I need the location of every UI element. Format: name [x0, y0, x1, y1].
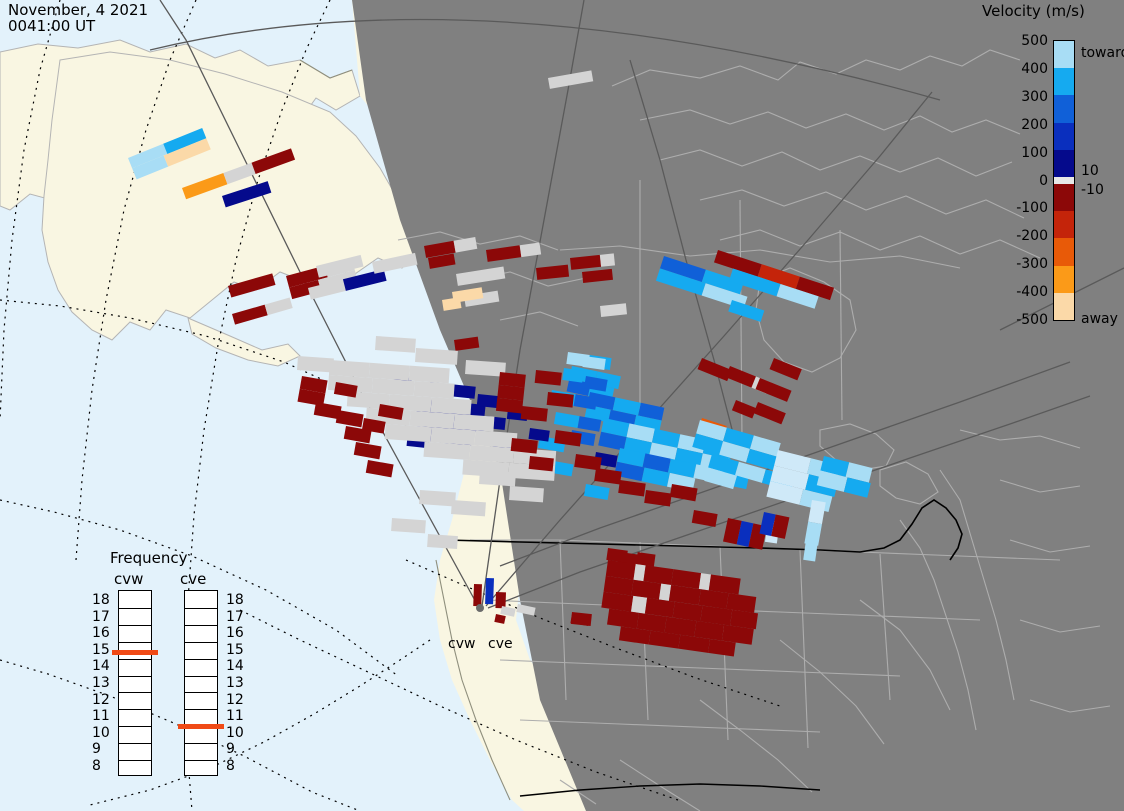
colorbar-segment — [1054, 95, 1074, 123]
frequency-scale-cvw — [118, 590, 152, 776]
colorbar-segment — [1054, 211, 1074, 239]
frequency-column-label-cvw: cvw — [114, 570, 143, 588]
frequency-scale-label: 10 — [226, 725, 244, 741]
frequency-scale-label: 16 — [92, 625, 110, 641]
frequency-gridline — [185, 709, 217, 710]
frequency-scale-label: 8 — [92, 758, 101, 774]
frequency-marker-cve — [178, 724, 224, 729]
frequency-scale-label: 13 — [92, 675, 110, 691]
colorbar-segment — [1054, 266, 1074, 294]
colorbar-segment — [1054, 123, 1074, 151]
radar-label-cvw: cvw — [448, 636, 475, 652]
frequency-gridline — [119, 676, 151, 677]
frequency-scale-label: 9 — [92, 741, 101, 757]
colorbar-segment — [1054, 68, 1074, 96]
frequency-gridline — [119, 642, 151, 643]
frequency-gridline — [119, 625, 151, 626]
frequency-scale-label: 16 — [226, 625, 244, 641]
colorbar-tick-label: 300 — [1021, 89, 1048, 105]
frequency-gridline — [185, 676, 217, 677]
colorbar-tick-label: 200 — [1021, 117, 1048, 133]
frequency-marker-cvw — [112, 650, 158, 655]
frequency-scale-label: 10 — [92, 725, 110, 741]
colorbar-tick-label: -100 — [1016, 200, 1048, 216]
frequency-gridline — [119, 692, 151, 693]
colorbar-tick-label: 500 — [1021, 33, 1048, 49]
frequency-gridline — [185, 608, 217, 609]
colorbar-tick-label: 100 — [1021, 145, 1048, 161]
colorbar-tick-label: 0 — [1039, 173, 1048, 189]
frequency-column-label-cve: cve — [180, 570, 206, 588]
frequency-gridline — [119, 743, 151, 744]
frequency-gridline — [119, 709, 151, 710]
radar-label-cve: cve — [488, 636, 513, 652]
colorbar-segment — [1054, 177, 1074, 184]
radar-site-dot — [476, 604, 484, 612]
frequency-scale-label: 9 — [226, 741, 235, 757]
frequency-gridline — [185, 642, 217, 643]
colorbar-tick-label: -300 — [1016, 256, 1048, 272]
frequency-scale-label: 11 — [226, 708, 244, 724]
frequency-scale-label: 13 — [226, 675, 244, 691]
colorbar-away-label: away — [1081, 311, 1118, 327]
frequency-scale-label: 18 — [92, 592, 110, 608]
frequency-gridline — [119, 608, 151, 609]
colorbar-title: Velocity (m/s) — [982, 2, 1085, 20]
map-time: 0041:00 UT — [8, 18, 95, 34]
colorbar-tick-label: -400 — [1016, 284, 1048, 300]
frequency-gridline — [185, 760, 217, 761]
colorbar-tick-label: -200 — [1016, 228, 1048, 244]
colorbar-zero-pos-label: 10 — [1081, 163, 1099, 179]
frequency-scale-label: 17 — [92, 609, 110, 625]
frequency-gridline — [185, 743, 217, 744]
colorbar-toward-label: toward — [1081, 45, 1124, 61]
colorbar-segment — [1054, 41, 1074, 69]
frequency-title: Frequency — [110, 549, 188, 567]
frequency-scale-label: 15 — [92, 642, 110, 658]
colorbar-segment — [1054, 184, 1074, 212]
velocity-colorbar — [1053, 40, 1075, 321]
frequency-scale-label: 17 — [226, 609, 244, 625]
frequency-scale-label: 14 — [92, 658, 110, 674]
colorbar-segment — [1054, 293, 1074, 321]
colorbar-segment — [1054, 238, 1074, 266]
frequency-scale-label: 18 — [226, 592, 244, 608]
colorbar-segment — [1054, 150, 1074, 178]
frequency-scale-cve — [184, 590, 218, 776]
frequency-scale-label: 14 — [226, 658, 244, 674]
frequency-gridline — [185, 692, 217, 693]
frequency-scale-label: 8 — [226, 758, 235, 774]
frequency-gridline — [185, 659, 217, 660]
frequency-gridline — [185, 625, 217, 626]
map-date: November, 4 2021 — [8, 2, 148, 18]
frequency-scale-label: 15 — [226, 642, 244, 658]
frequency-gridline — [119, 760, 151, 761]
frequency-gridline — [119, 659, 151, 660]
radar-velocity-map: November, 4 2021 0041:00 UT Velocity (m/… — [0, 0, 1124, 811]
colorbar-tick-label: 400 — [1021, 61, 1048, 77]
frequency-scale-label: 12 — [226, 692, 244, 708]
frequency-gridline — [119, 726, 151, 727]
frequency-scale-label: 12 — [92, 692, 110, 708]
colorbar-tick-label: -500 — [1016, 312, 1048, 328]
frequency-scale-label: 11 — [92, 708, 110, 724]
velocity-cells-layer — [0, 0, 1124, 811]
colorbar-zero-neg-label: -10 — [1081, 182, 1104, 198]
